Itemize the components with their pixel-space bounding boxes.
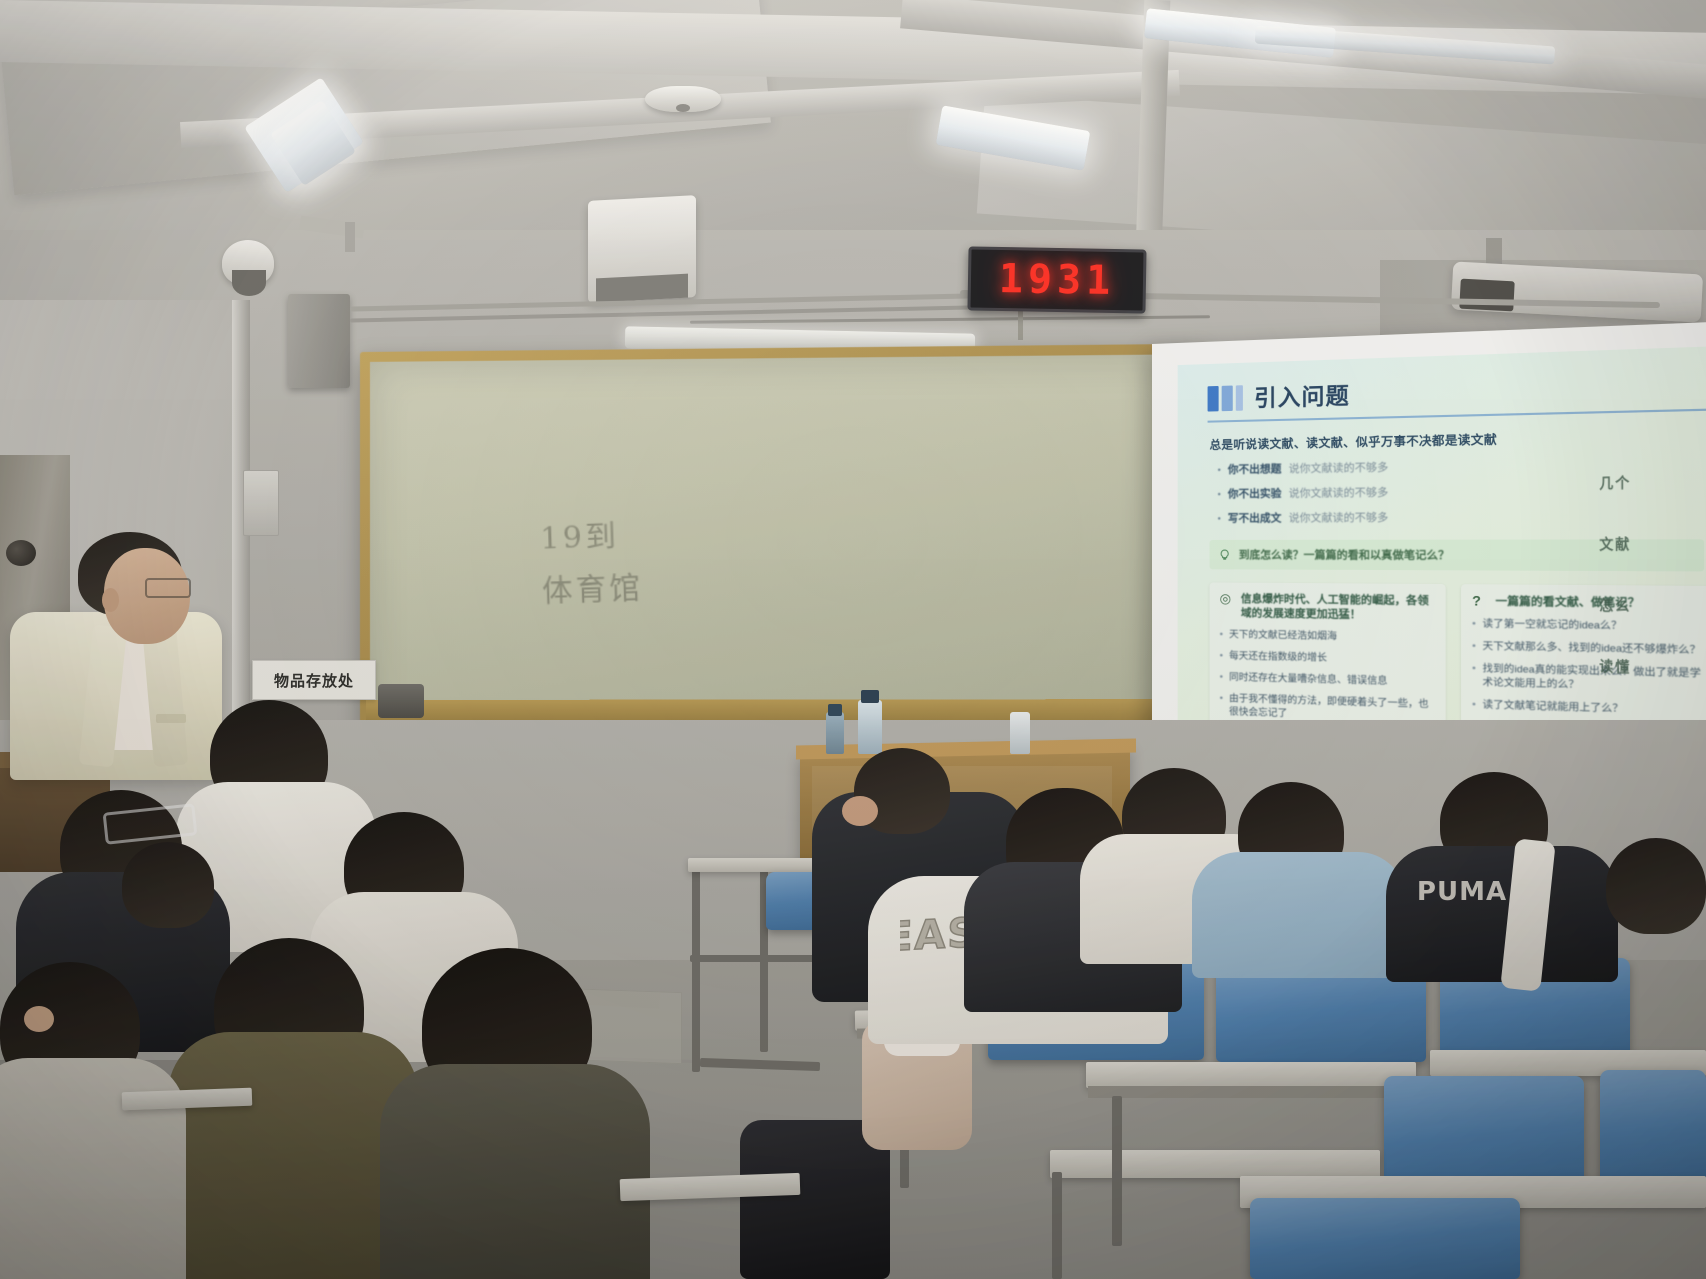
chair-seat[interactable] (1250, 1198, 1520, 1279)
card-header: ◎ 信息爆炸时代、人工智能的崛起，各领域的发展速度更加迅猛！ (1220, 592, 1435, 623)
lightbulb-icon (1219, 549, 1231, 561)
water-bottle[interactable] (1010, 712, 1030, 754)
slide-lead-text: 总是听说读文献、读文献、似乎万事不决都是读文献 (1210, 425, 1706, 453)
slide-title: 引入问题 (1254, 378, 1350, 414)
bullet-dot-icon: • (1218, 514, 1221, 524)
bullet-rest: 说你文献读的不够多 (1289, 459, 1389, 476)
camera-dome (232, 270, 266, 296)
bullet-dot-icon: • (1220, 671, 1223, 684)
bottle-cap (861, 690, 879, 703)
spill-line: 文献 (1599, 513, 1706, 576)
smoke-detector-led (676, 104, 690, 112)
student-body (1192, 852, 1406, 978)
slide-header: 引入问题 (1208, 365, 1706, 415)
desk-leg (692, 862, 700, 1072)
card-list-item: • 每天还在指数级的增长 (1220, 649, 1435, 667)
bullet-dot-icon: • (1472, 698, 1476, 712)
desk-edge (1088, 1086, 1414, 1098)
slide-tip-text: 到底怎么读？一篇篇的看和以真做笔记么？ (1239, 547, 1450, 563)
projector-lens-icon (1459, 279, 1514, 312)
card-item-text: 天下的文献已经浩如烟海 (1229, 628, 1337, 643)
card-item-text: 每天还在指数级的增长 (1229, 650, 1327, 665)
digital-wall-clock: 1931 (967, 246, 1146, 313)
bullet-dot-icon: • (1472, 662, 1476, 690)
bullet-dot-icon: • (1218, 489, 1221, 499)
slide-bars-icon (1208, 385, 1243, 411)
globe-icon: ◎ (1220, 592, 1234, 605)
desk-leg (1112, 1096, 1122, 1246)
storage-sign: 物品存放处 (252, 660, 376, 700)
bullet-dot-icon: • (1220, 628, 1223, 641)
spill-line: 读懂 (1599, 637, 1706, 703)
desk-crossbar (690, 955, 816, 962)
bullet-dot-icon: • (1218, 465, 1221, 475)
green-whiteboard: 19到 体育馆 (360, 344, 1202, 752)
student-hand (842, 796, 878, 826)
card-list-item: • 天下的文献已经浩如烟海 (1220, 628, 1435, 645)
whiteboard-writing: 19到 体育馆 (539, 499, 936, 624)
water-bottle[interactable] (858, 700, 882, 754)
bullet-dot-icon: • (1220, 649, 1223, 662)
jacket-pocket (156, 714, 186, 723)
camera-bracket (345, 222, 355, 252)
student-head (122, 842, 214, 928)
bullet-dot-icon: • (1472, 639, 1476, 653)
projection-spill-column: 几个 文献 怎么 读懂 (1599, 450, 1706, 684)
brand-logo-text: PUMA (1417, 877, 1507, 907)
spill-line: 怎么 (1599, 576, 1706, 639)
bullet-rest: 说你文献读的不够多 (1289, 484, 1389, 501)
bullet-strong: 写不出成文 (1228, 510, 1282, 526)
bullet-strong: 你不出想题 (1228, 461, 1282, 477)
card-item-text: 读了文献笔记就能用上了么？ (1482, 698, 1623, 716)
card-item-text: 同时还存在大量嘈杂信息、错误信息 (1229, 671, 1387, 688)
spill-line: 几个 (1599, 450, 1706, 515)
eraser-holder[interactable] (378, 684, 424, 718)
desk-leg (1052, 1172, 1062, 1279)
card-list-item: • 同时还存在大量嘈杂信息、错误信息 (1220, 671, 1435, 690)
whiteboard-surface[interactable]: 19到 体育馆 (370, 354, 1191, 741)
water-bottle[interactable] (826, 712, 844, 754)
student-ear (24, 1006, 54, 1032)
wall-speaker-grille (596, 274, 688, 303)
card-list-item: • 读了文献笔记就能用上了么？ (1472, 698, 1706, 719)
question-icon: ? (1472, 594, 1488, 608)
student-body (380, 1064, 650, 1279)
bullet-dot-icon: • (1472, 617, 1476, 631)
card-heading: 信息爆炸时代、人工智能的崛起，各领域的发展速度更加迅猛！ (1241, 592, 1435, 623)
brand-logo: PUMA (1410, 872, 1514, 912)
eyeglasses-icon (145, 578, 191, 598)
wall-control-plate[interactable] (243, 470, 279, 536)
bullet-strong: 你不出实验 (1228, 486, 1282, 502)
desk-surface (1086, 1062, 1416, 1088)
student-head (1606, 838, 1706, 934)
classroom-photo: 1931 19到 体育馆 引入问题 总是听说读文献、读文献、似乎万事不决都是读文… (0, 0, 1706, 1279)
desk-surface (1050, 1150, 1380, 1178)
chair-seat[interactable] (1600, 1070, 1706, 1190)
instructor-ear (102, 588, 119, 612)
storage-sign-label: 物品存放处 (274, 670, 354, 691)
bullet-dot-icon: • (1220, 692, 1223, 718)
bottle-cap (828, 704, 842, 716)
wall-speaker-secondary (288, 294, 350, 388)
bullet-rest: 说你文献读的不够多 (1289, 509, 1389, 525)
clock-time-display: 1931 (998, 256, 1115, 304)
desk-surface (688, 858, 818, 872)
